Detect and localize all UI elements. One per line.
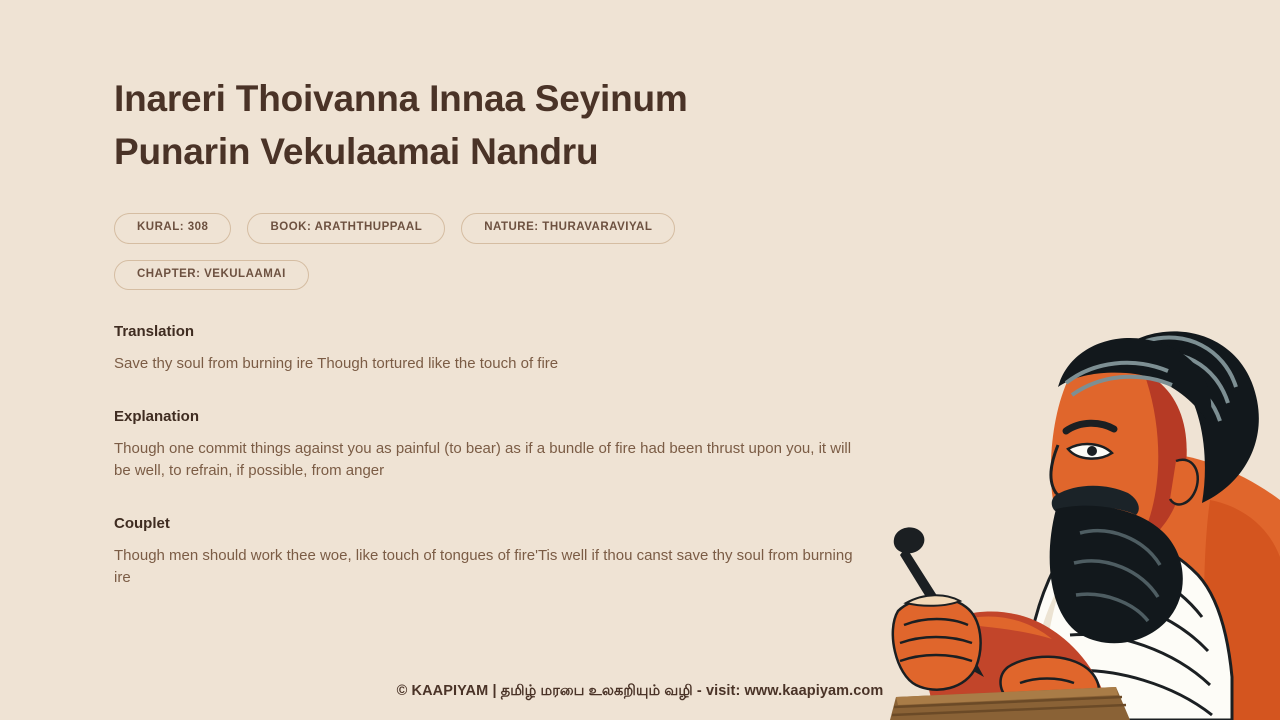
- section-couplet: Couplet Though men should work thee woe,…: [114, 515, 884, 589]
- beard-streak-1: [1080, 531, 1160, 565]
- badge-kural[interactable]: KURAL: 308: [114, 213, 231, 244]
- metadata-badge-list: KURAL: 308 BOOK: ARATHTHUPPAAL NATURE: T…: [114, 213, 884, 290]
- thiruvalluvar-illustration: [880, 295, 1280, 720]
- page-title: Inareri Thoivanna Innaa Seyinum Punarin …: [114, 72, 884, 178]
- torso-shape: [1116, 453, 1280, 720]
- badge-nature[interactable]: NATURE: THURAVARAVIYAL: [461, 213, 675, 244]
- neck-shadow-shape: [1128, 461, 1184, 553]
- couplet-body: Though men should work thee woe, like to…: [114, 545, 866, 589]
- kural-card: Inareri Thoivanna Innaa Seyinum Punarin …: [0, 0, 1280, 720]
- cloth-fold-2: [1078, 599, 1208, 651]
- hair-streak-1: [1146, 338, 1236, 387]
- hair-bun-shape: [1122, 331, 1259, 503]
- thumb-shape: [906, 595, 960, 606]
- beard-streak-3: [1076, 594, 1148, 621]
- hair-streak-2: [1138, 352, 1228, 403]
- nose-shape: [1051, 445, 1080, 499]
- kural-title-line-2: Punarin Vekulaamai Nandru: [114, 131, 598, 172]
- couplet-heading: Couplet: [114, 515, 884, 532]
- translation-body: Save thy soul from burning ire Though to…: [114, 353, 866, 375]
- badge-book[interactable]: BOOK: ARATHTHUPPAAL: [247, 213, 445, 244]
- ear-shape: [1170, 460, 1198, 505]
- forearm-shape: [927, 611, 1112, 720]
- finger-line-1: [904, 619, 968, 625]
- beard-streak-2: [1074, 561, 1158, 597]
- hair-streak-3: [1132, 369, 1220, 421]
- face-shape: [1051, 361, 1187, 551]
- explanation-heading: Explanation: [114, 408, 884, 425]
- badge-chapter[interactable]: CHAPTER: VEKULAAMAI: [114, 260, 309, 291]
- hair-front-streak-1: [1066, 363, 1168, 383]
- cloth-fold-1: [1090, 563, 1202, 617]
- face-shadow-shape: [1136, 373, 1187, 547]
- kural-title-line-1: Inareri Thoivanna Innaa Seyinum: [114, 78, 688, 119]
- hair-front-shape: [1058, 338, 1211, 425]
- finger-line-3: [900, 655, 972, 661]
- forearm-highlight-shape: [954, 616, 1052, 639]
- finger-line-2: [900, 637, 972, 643]
- footer-credit: © KAAPIYAM | தமிழ் மரபை உலகறியும் வழி - …: [0, 683, 1280, 701]
- section-translation: Translation Save thy soul from burning i…: [114, 323, 884, 375]
- explanation-body: Though one commit things against you as …: [114, 438, 866, 482]
- eyebrow-shape: [1066, 423, 1114, 431]
- pupil-shape: [1087, 446, 1097, 456]
- cloth-fold-3: [1070, 634, 1210, 685]
- kural-content: Inareri Thoivanna Innaa Seyinum Punarin …: [114, 72, 884, 589]
- eye-shape: [1068, 444, 1112, 459]
- section-explanation: Explanation Though one commit things aga…: [114, 408, 884, 482]
- moustache-shape: [1052, 486, 1139, 515]
- writing-hand-shape: [893, 598, 981, 690]
- translation-heading: Translation: [114, 323, 884, 340]
- stylus-icon: [894, 527, 984, 677]
- hair-front-streak-2: [1072, 377, 1172, 395]
- beard-shape: [1050, 506, 1183, 644]
